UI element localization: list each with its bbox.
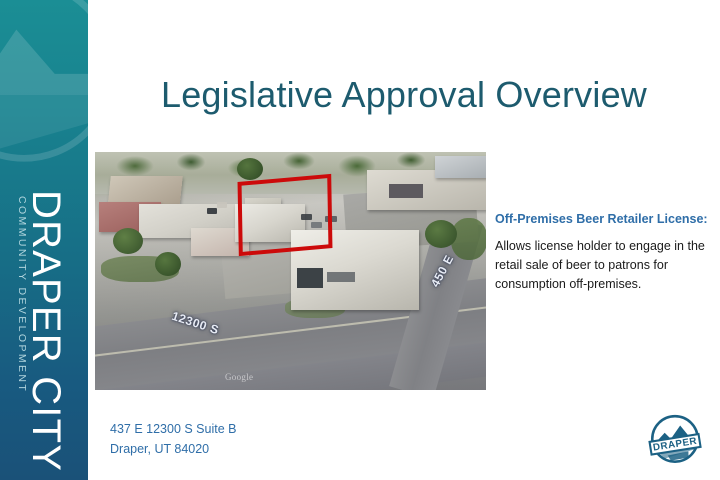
sidebar-brand-panel: DRAPER CITY COMMUNITY DEVELOPMENT bbox=[0, 0, 88, 480]
property-address-caption: 437 E 12300 S Suite B Draper, UT 84020 bbox=[110, 419, 236, 460]
building bbox=[435, 156, 486, 178]
address-line-2: Draper, UT 84020 bbox=[110, 439, 236, 459]
license-type-heading: Off-Premises Beer Retailer License: bbox=[495, 212, 713, 228]
aerial-map-photo: 12300 S 450 E Google bbox=[95, 152, 486, 390]
vehicle bbox=[217, 202, 227, 208]
draper-city-badge-logo-icon: DRAPER bbox=[644, 412, 706, 470]
sidebar-brand-text: DRAPER CITY COMMUNITY DEVELOPMENT bbox=[0, 0, 88, 480]
license-description-text: Allows license holder to engage in the r… bbox=[495, 237, 713, 294]
sidebar-brand-subtitle: COMMUNITY DEVELOPMENT bbox=[16, 196, 28, 393]
property-highlight-box bbox=[238, 174, 333, 256]
building-door bbox=[389, 184, 423, 198]
tree bbox=[425, 220, 457, 248]
vehicle bbox=[207, 208, 217, 214]
map-attribution-watermark: Google bbox=[225, 372, 253, 382]
page-title: Legislative Approval Overview bbox=[88, 74, 720, 116]
grass-patch bbox=[451, 218, 486, 260]
tree bbox=[113, 228, 143, 254]
building-window bbox=[327, 272, 355, 282]
tree bbox=[155, 252, 181, 276]
license-info-block: Off-Premises Beer Retailer License: Allo… bbox=[495, 212, 713, 294]
building-door bbox=[297, 268, 323, 288]
address-line-1: 437 E 12300 S Suite B bbox=[110, 419, 236, 439]
tree bbox=[237, 158, 263, 180]
sidebar-brand-title: DRAPER CITY bbox=[23, 190, 68, 472]
